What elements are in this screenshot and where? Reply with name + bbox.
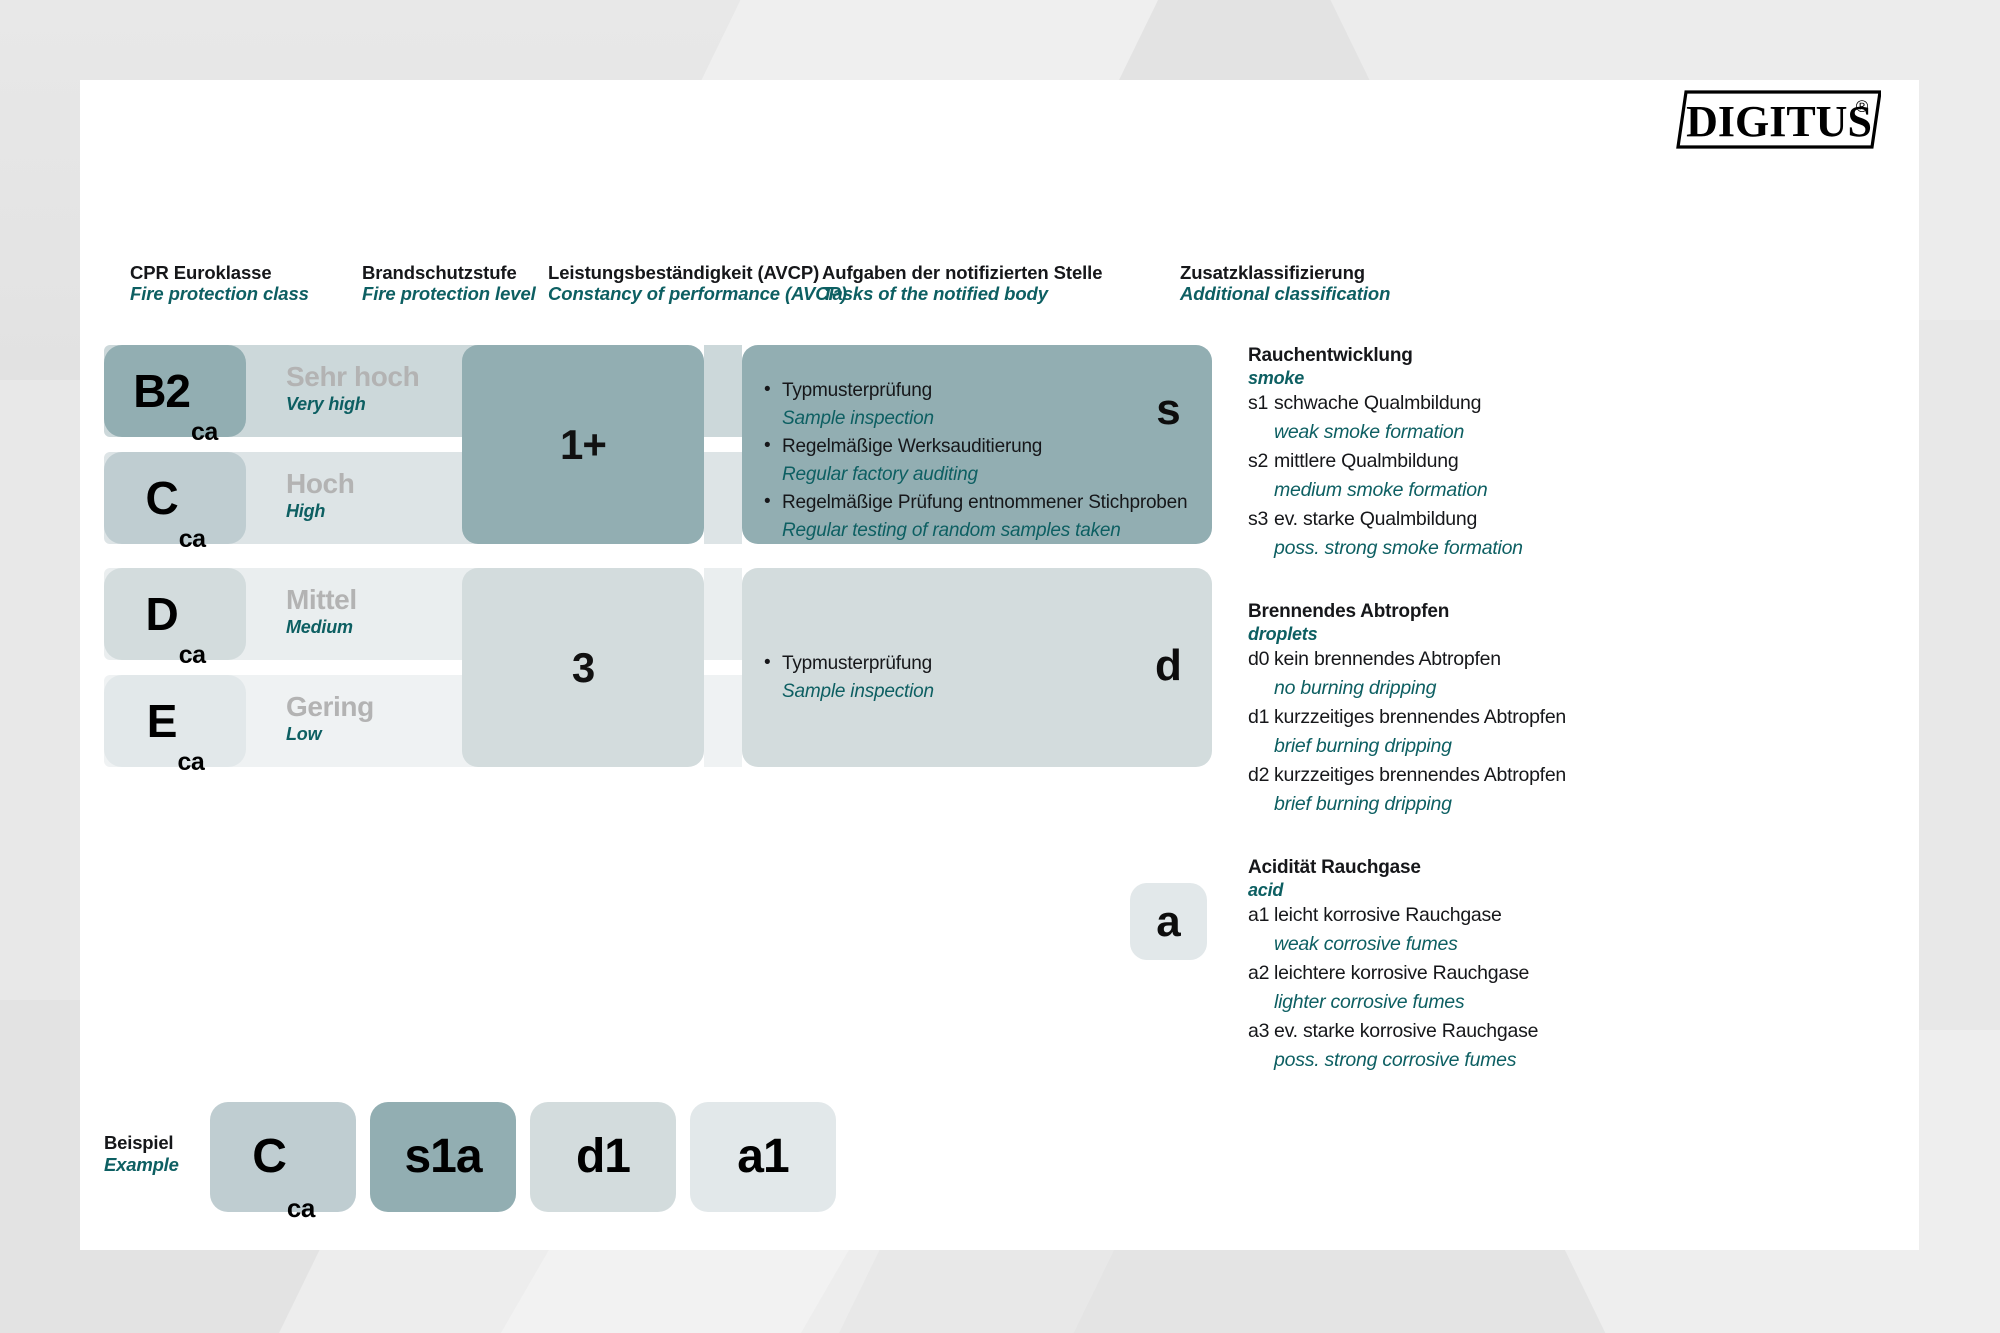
additional-row-key: a2: [1248, 959, 1274, 988]
additional-row-en: weak smoke formation: [1248, 418, 1808, 447]
example-code-main: a1: [737, 1133, 788, 1181]
additional-title-en: droplets: [1248, 623, 1808, 645]
level-en: Medium: [286, 615, 357, 639]
additional-row-de: s2mittlere Qualmbildung: [1248, 447, 1808, 476]
additional-group-droplets: d Brennendes Abtropfen droplets d0kein b…: [1130, 601, 1830, 801]
example-code-main: C: [252, 1133, 286, 1181]
level-cca: Hoch High: [286, 469, 354, 523]
connector-strip-upper-bottom: [704, 452, 742, 544]
example-box-smoke[interactable]: s1a: [370, 1102, 516, 1212]
additional-row-key: s3: [1248, 505, 1274, 534]
additional-title-de: Rauchentwicklung: [1248, 345, 1808, 367]
level-dca: Mittel Medium: [286, 585, 357, 639]
additional-row-en: brief burning dripping: [1248, 732, 1808, 761]
additional-row-en: poss. strong smoke formation: [1248, 534, 1808, 563]
example-row: Beispiel Example Cca s1a d1 a1: [104, 1102, 904, 1212]
additional-row-key: d0: [1248, 645, 1274, 674]
avcp-value: 1+: [560, 421, 606, 469]
additional-row-text: ev. starke Qualmbildung: [1274, 508, 1477, 530]
example-box-class[interactable]: Cca: [210, 1102, 356, 1212]
additional-row-en: weak corrosive fumes: [1248, 930, 1808, 959]
additional-badge-a[interactable]: a: [1130, 883, 1207, 960]
additional-row-text: mittlere Qualmbildung: [1274, 450, 1458, 472]
additional-row-en: poss. strong corrosive fumes: [1248, 1046, 1808, 1075]
connector-strip-lower-bottom: [704, 675, 742, 767]
additional-row-key: s2: [1248, 447, 1274, 476]
avcp-block-1plus[interactable]: 1+: [462, 345, 704, 544]
level-en: Very high: [286, 392, 419, 416]
connector-strip-upper-top: [704, 345, 742, 437]
additional-letter: a: [1156, 900, 1180, 944]
additional-row-de: d0kein brennendes Abtropfen: [1248, 645, 1808, 674]
additional-row-text: ev. starke korrosive Rauchgase: [1274, 1020, 1538, 1042]
additional-row-text: schwache Qualmbildung: [1274, 392, 1481, 414]
example-code-main: d1: [576, 1133, 630, 1181]
example-label: Beispiel Example: [104, 1132, 179, 1176]
additional-row-key: a1: [1248, 901, 1274, 930]
additional-row-en: no burning dripping: [1248, 674, 1808, 703]
additional-badge-d[interactable]: d: [1130, 627, 1207, 704]
class-code-main: D: [145, 591, 177, 637]
additional-text-smoke: Rauchentwicklung smoke s1schwache Qualmb…: [1248, 345, 1808, 563]
example-code-sub: ca: [287, 1195, 315, 1221]
additional-row-text: leichtere korrosive Rauchgase: [1274, 962, 1529, 984]
classification-matrix: B2ca Sehr hoch Very high Cca Hoch High D…: [80, 80, 1919, 1250]
class-code-main: B2: [133, 368, 190, 414]
connector-gap-lower: [704, 660, 742, 675]
additional-row-text: leicht korrosive Rauchgase: [1274, 904, 1502, 926]
additional-row-en: medium smoke formation: [1248, 476, 1808, 505]
additional-row-de: s3ev. starke Qualmbildung: [1248, 505, 1808, 534]
additional-group-acid: a Acidität Rauchgase acid a1leicht korro…: [1130, 857, 1830, 1057]
example-box-acid[interactable]: a1: [690, 1102, 836, 1212]
additional-row-de: a1leicht korrosive Rauchgase: [1248, 901, 1808, 930]
level-b2ca: Sehr hoch Very high: [286, 362, 419, 416]
infographic-card: DIGITUS ® CPR Euroklasse Fire protection…: [80, 80, 1919, 1250]
level-de: Sehr hoch: [286, 362, 419, 392]
additional-row-en: lighter corrosive fumes: [1248, 988, 1808, 1017]
connector-strip-lower-top: [704, 568, 742, 660]
additional-row-en: brief burning dripping: [1248, 790, 1808, 819]
level-de: Gering: [286, 692, 374, 722]
example-label-en: Example: [104, 1154, 179, 1176]
additional-row-de: s1schwache Qualmbildung: [1248, 389, 1808, 418]
additional-title-de: Acidität Rauchgase: [1248, 857, 1808, 879]
class-badge-eca[interactable]: Eca: [104, 675, 246, 767]
class-badge-dca[interactable]: Dca: [104, 568, 246, 660]
additional-text-acid: Acidität Rauchgase acid a1leicht korrosi…: [1248, 857, 1808, 1075]
additional-badge-s[interactable]: s: [1130, 371, 1207, 448]
additional-row-key: a3: [1248, 1017, 1274, 1046]
additional-row-text: kurzzeitiges brennendes Abtropfen: [1274, 764, 1566, 786]
class-code-sub: ca: [179, 527, 206, 552]
additional-text-droplets: Brennendes Abtropfen droplets d0kein bre…: [1248, 601, 1808, 819]
additional-row-text: kein brennendes Abtropfen: [1274, 648, 1501, 670]
additional-letter: d: [1155, 644, 1182, 688]
additional-row-key: d2: [1248, 761, 1274, 790]
additional-title-en: acid: [1248, 879, 1808, 901]
additional-group-smoke: s Rauchentwicklung smoke s1schwache Qual…: [1130, 345, 1830, 545]
class-badge-cca[interactable]: Cca: [104, 452, 246, 544]
class-code-sub: ca: [191, 420, 218, 445]
additional-row-de: d2kurzzeitiges brennendes Abtropfen: [1248, 761, 1808, 790]
class-code-main: E: [147, 698, 177, 744]
class-code-main: C: [145, 475, 177, 521]
example-box-droplets[interactable]: d1: [530, 1102, 676, 1212]
avcp-value: 3: [572, 644, 594, 692]
additional-row-text: kurzzeitiges brennendes Abtropfen: [1274, 706, 1566, 728]
level-de: Hoch: [286, 469, 354, 499]
additional-row-key: d1: [1248, 703, 1274, 732]
example-code-main: s1a: [404, 1133, 481, 1181]
additional-letter: s: [1156, 388, 1180, 432]
example-label-de: Beispiel: [104, 1132, 179, 1154]
additional-title-de: Brennendes Abtropfen: [1248, 601, 1808, 623]
connector-gap-upper: [704, 437, 742, 452]
avcp-block-3[interactable]: 3: [462, 568, 704, 767]
class-code-sub: ca: [177, 750, 204, 775]
additional-row-de: a2leichtere korrosive Rauchgase: [1248, 959, 1808, 988]
level-en: Low: [286, 722, 374, 746]
level-eca: Gering Low: [286, 692, 374, 746]
class-badge-b2ca[interactable]: B2ca: [104, 345, 246, 437]
class-code-sub: ca: [179, 643, 206, 668]
additional-row-de: d1kurzzeitiges brennendes Abtropfen: [1248, 703, 1808, 732]
level-de: Mittel: [286, 585, 357, 615]
level-en: High: [286, 499, 354, 523]
additional-title-en: smoke: [1248, 367, 1808, 389]
additional-row-de: a3ev. starke korrosive Rauchgase: [1248, 1017, 1808, 1046]
additional-row-key: s1: [1248, 389, 1274, 418]
